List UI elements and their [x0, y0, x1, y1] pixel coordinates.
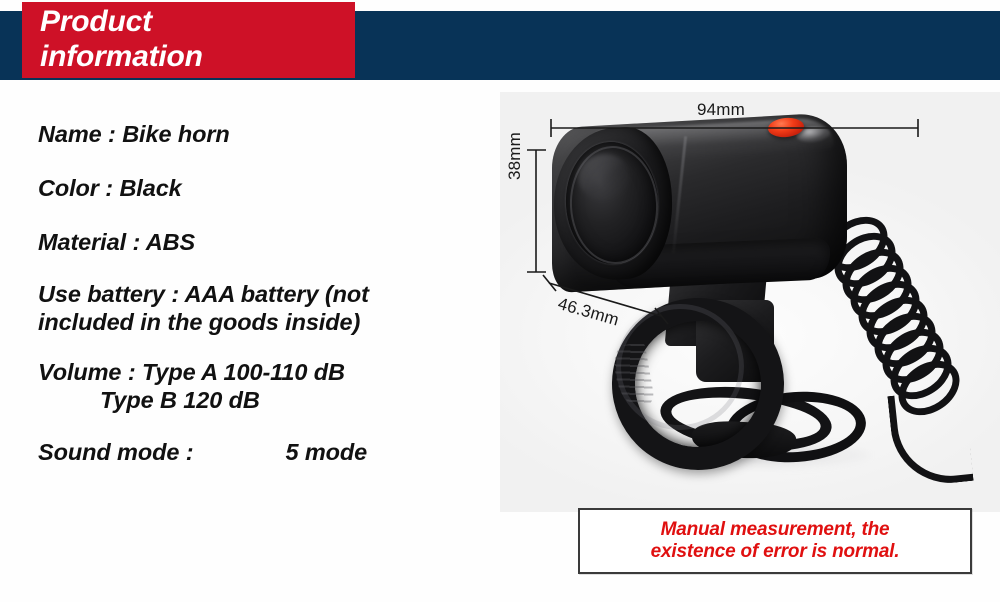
- spec-row-name: Name : Bike horn: [38, 120, 508, 148]
- page-title: Product information: [40, 4, 370, 74]
- spec-row-material: Material : ABS: [38, 228, 508, 256]
- product-spec-list: Name : Bike horn Color : Black Material …: [38, 120, 508, 466]
- product-photo: [500, 92, 1000, 512]
- spec-row-sound-mode: Sound mode : 5 mode: [38, 438, 508, 466]
- spec-sound-mode-label: Sound mode :: [38, 438, 193, 466]
- spec-battery-line2: included in the goods inside): [38, 308, 508, 336]
- spec-volume-line1: Volume : Type A 100-110 dB: [38, 358, 508, 386]
- spec-row-color: Color : Black: [38, 174, 508, 202]
- spec-row-battery: Use battery : AAA battery (not included …: [38, 280, 508, 336]
- measurement-warning-text: Manual measurement, the existence of err…: [651, 519, 900, 563]
- spec-volume-line2: Type B 120 dB: [38, 386, 508, 414]
- header-banner: Product information: [0, 0, 1000, 92]
- measurement-warning-box: Manual measurement, the existence of err…: [578, 508, 972, 574]
- spec-sound-mode-value: 5 mode: [285, 438, 367, 466]
- spec-battery-line1: Use battery : AAA battery (not: [38, 280, 508, 308]
- spec-row-volume: Volume : Type A 100-110 dB Type B 120 dB: [38, 358, 508, 414]
